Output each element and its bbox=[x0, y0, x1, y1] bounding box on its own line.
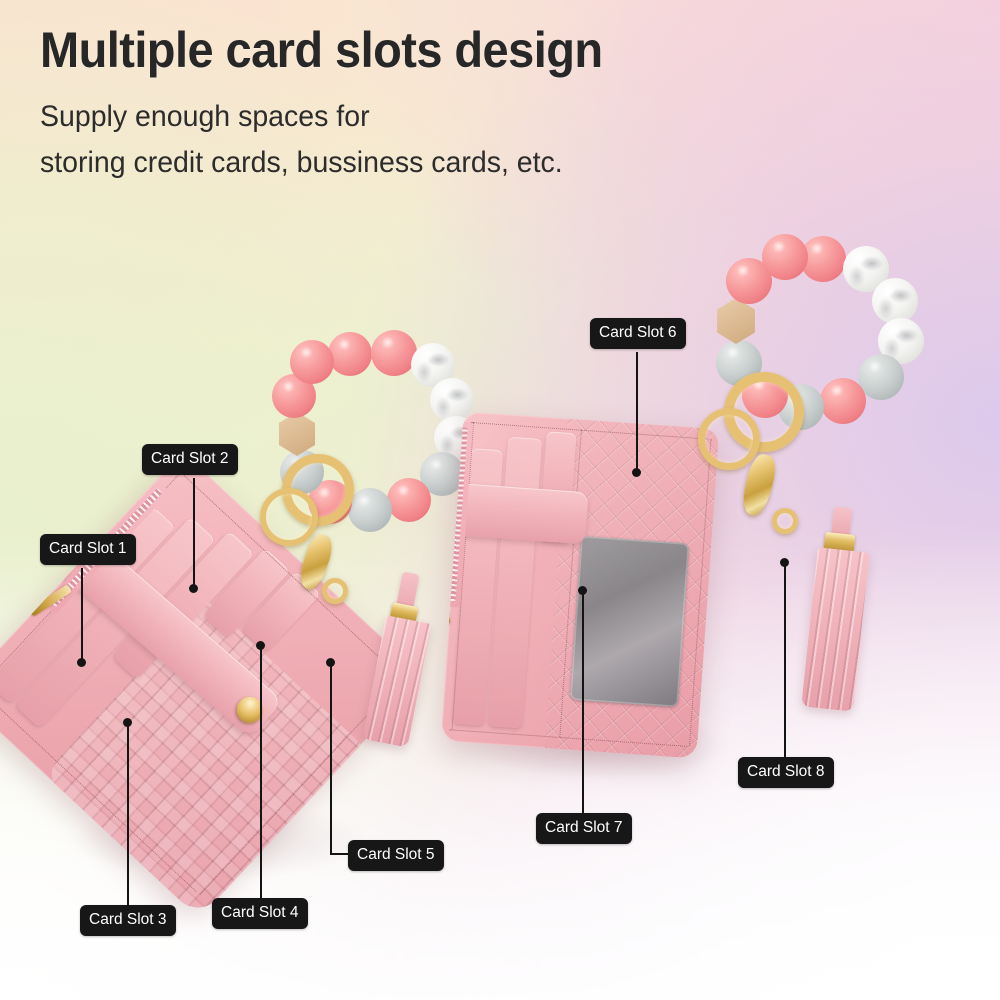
callout-card-slot-4[interactable]: Card Slot 4 bbox=[212, 898, 308, 929]
leader-line-card-slot-6 bbox=[636, 352, 638, 472]
split-ring bbox=[260, 488, 318, 546]
right-wallet bbox=[441, 411, 719, 758]
connector-ring bbox=[322, 578, 348, 604]
right-keychain-hardware bbox=[690, 372, 860, 572]
callout-card-slot-6[interactable]: Card Slot 6 bbox=[590, 318, 686, 349]
leader-dot-card-slot-2 bbox=[189, 584, 198, 593]
split-ring bbox=[698, 408, 760, 470]
leader-line-card-slot-4 bbox=[260, 645, 262, 898]
bead-pink bbox=[371, 330, 417, 376]
leader-dot-card-slot-5 bbox=[326, 658, 335, 667]
leader-line-card-slot-2 bbox=[193, 478, 195, 588]
right-wallet-body bbox=[441, 411, 719, 758]
callout-card-slot-3[interactable]: Card Slot 3 bbox=[80, 905, 176, 936]
bead-pink bbox=[328, 332, 372, 376]
leader-dot-card-slot-4 bbox=[256, 641, 265, 650]
right-wallet-id-window bbox=[570, 536, 689, 707]
callout-card-slot-5[interactable]: Card Slot 5 bbox=[348, 840, 444, 871]
leader-line-card-slot-8 bbox=[784, 562, 786, 757]
leader-dot-card-slot-6 bbox=[632, 468, 641, 477]
leader-line-card-slot-7 bbox=[582, 590, 584, 813]
leader-line-card-slot-1 bbox=[81, 568, 83, 662]
callout-card-slot-7[interactable]: Card Slot 7 bbox=[536, 813, 632, 844]
subtitle-line-2: storing credit cards, bussiness cards, e… bbox=[40, 146, 563, 180]
subtitle-line-1: Supply enough spaces for bbox=[40, 100, 370, 134]
leader-dot-card-slot-3 bbox=[123, 718, 132, 727]
bead-pink bbox=[762, 234, 808, 280]
right-wallet-snap-strap bbox=[447, 483, 588, 544]
bead-pink bbox=[290, 340, 334, 384]
leader-dot-card-slot-1 bbox=[77, 658, 86, 667]
leader-line-card-slot-5-vertical bbox=[330, 662, 332, 854]
leader-line-card-slot-3 bbox=[127, 722, 129, 905]
leader-dot-card-slot-8 bbox=[780, 558, 789, 567]
bead-marble bbox=[872, 278, 918, 324]
bead-wood-hexagon bbox=[714, 298, 758, 344]
infographic-canvas: Multiple card slots design Supply enough… bbox=[0, 0, 1000, 1000]
left-keychain-hardware bbox=[252, 450, 412, 640]
leader-line-card-slot-5-horizontal bbox=[330, 853, 350, 855]
callout-card-slot-8[interactable]: Card Slot 8 bbox=[738, 757, 834, 788]
page-title: Multiple card slots design bbox=[40, 21, 602, 79]
callout-card-slot-1[interactable]: Card Slot 1 bbox=[40, 534, 136, 565]
leader-dot-card-slot-7 bbox=[578, 586, 587, 595]
callout-card-slot-2[interactable]: Card Slot 2 bbox=[142, 444, 238, 475]
connector-ring bbox=[772, 508, 798, 534]
